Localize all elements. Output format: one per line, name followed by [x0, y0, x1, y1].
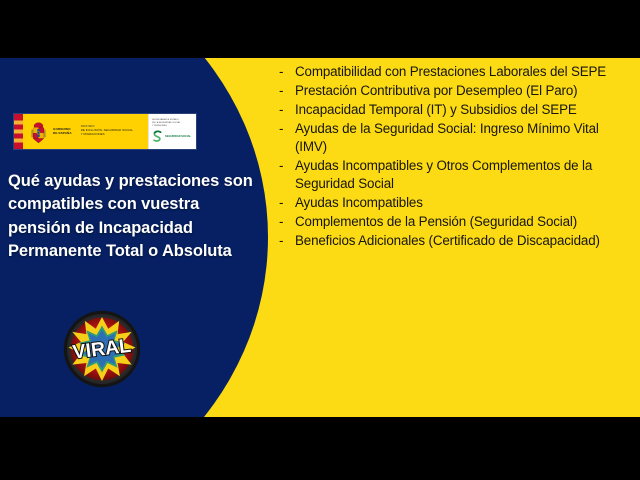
list-item: - Incapacidad Temporal (IT) y Subsidios …: [279, 101, 624, 119]
seguridad-social-line-3: Y PENSIONES: [152, 125, 196, 128]
ministerio-text: MINISTERIO DE INCLUSIÓN, SEGURIDAD SOCIA…: [81, 126, 133, 136]
seguridad-social-block: SECRETARÍA DE ESTADO DE LA SEGURIDAD SOC…: [148, 114, 196, 149]
list-item-label: Ayudas Incompatibles: [295, 194, 624, 212]
list-item-label: Compatibilidad con Prestaciones Laborale…: [295, 63, 624, 81]
list-item-label: Prestación Contributiva por Desempleo (E…: [295, 82, 624, 100]
seguridad-social-logo-row: SEGURIDAD SOCIAL: [152, 130, 196, 144]
letterbox-bar-top: [0, 0, 640, 58]
spanish-coat-of-arms-icon: [30, 120, 47, 144]
list-item-label: Beneficios Adicionales (Certificado de D…: [295, 232, 624, 250]
list-item-label: Ayudas Incompatibles y Otros Complemento…: [295, 157, 624, 193]
bullet-marker-icon: -: [279, 213, 295, 231]
bullet-marker-icon: -: [279, 120, 295, 138]
list-item: - Prestación Contributiva por Desempleo …: [279, 82, 624, 100]
list-item: - Ayudas Incompatibles: [279, 194, 624, 212]
spanish-flag-stripes-icon: [14, 114, 23, 149]
government-logo-banner: GOBIERNO DE ESPAÑA MINISTERIO DE INCLUSI…: [14, 114, 196, 149]
page-title: Qué ayudas y prestaciones son compatible…: [8, 170, 258, 264]
seguridad-social-name: SEGURIDAD SOCIAL: [165, 135, 191, 138]
slide-canvas: GOBIERNO DE ESPAÑA MINISTERIO DE INCLUSI…: [0, 58, 640, 417]
gobierno-text: GOBIERNO DE ESPAÑA: [53, 128, 72, 135]
list-item-label: Incapacidad Temporal (IT) y Subsidios de…: [295, 101, 624, 119]
bullet-marker-icon: -: [279, 157, 295, 175]
list-item: - Ayudas de la Seguridad Social: Ingreso…: [279, 120, 624, 156]
video-frame: GOBIERNO DE ESPAÑA MINISTERIO DE INCLUSI…: [0, 0, 640, 480]
bullet-marker-icon: -: [279, 194, 295, 212]
list-item: - Beneficios Adicionales (Certificado de…: [279, 232, 624, 250]
letterbox-bar-bottom: [0, 417, 640, 480]
list-item-label: Ayudas de la Seguridad Social: Ingreso M…: [295, 120, 624, 156]
viral-logo: VIRAL: [62, 310, 142, 388]
list-item: - Complementos de la Pensión (Seguridad …: [279, 213, 624, 231]
ministerio-line-3: Y MIGRACIONES: [81, 133, 133, 137]
seguridad-social-s-icon: [152, 130, 163, 144]
bullet-marker-icon: -: [279, 101, 295, 119]
gobierno-line-2: DE ESPAÑA: [53, 132, 72, 136]
bullet-marker-icon: -: [279, 82, 295, 100]
list-item-label: Complementos de la Pensión (Seguridad So…: [295, 213, 624, 231]
benefits-list: - Compatibilidad con Prestaciones Labora…: [279, 63, 624, 251]
gobierno-de-espana-block: GOBIERNO DE ESPAÑA MINISTERIO DE INCLUSI…: [23, 114, 148, 149]
list-item: - Ayudas Incompatibles y Otros Complemen…: [279, 157, 624, 193]
list-item: - Compatibilidad con Prestaciones Labora…: [279, 63, 624, 81]
bullet-marker-icon: -: [279, 232, 295, 250]
bullet-marker-icon: -: [279, 63, 295, 81]
